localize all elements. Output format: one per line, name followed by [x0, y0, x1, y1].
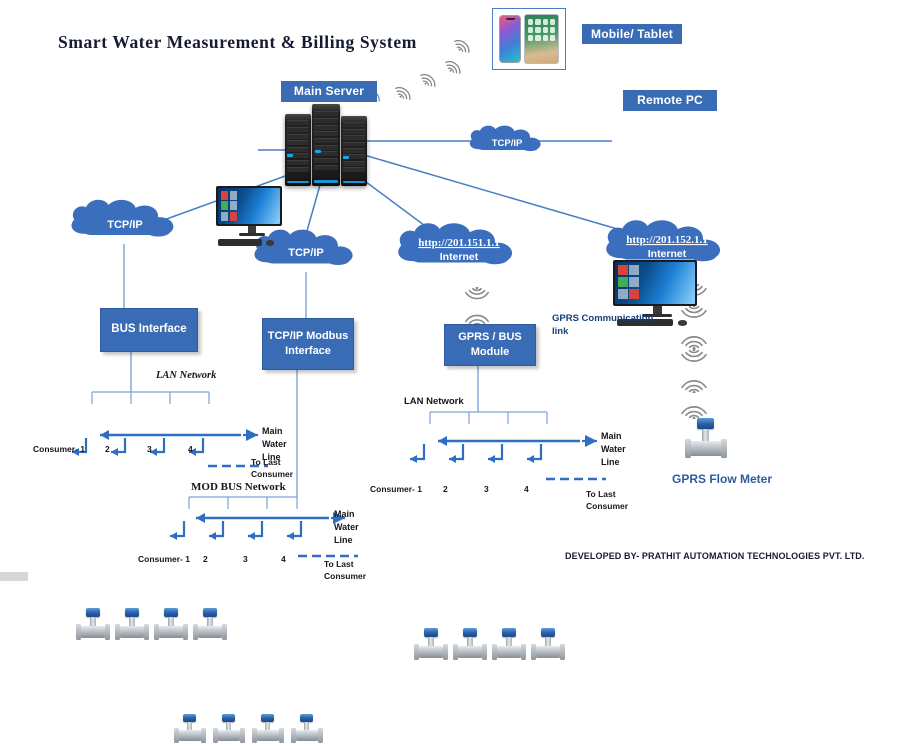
wifi-icon	[418, 71, 438, 90]
flow-meter-icon	[115, 608, 149, 646]
cloud-label: Internet	[440, 251, 479, 263]
wifi-icon	[393, 84, 413, 103]
gprs-link-annotation: GPRS Communication link	[552, 312, 672, 339]
flow-meter-icon	[76, 608, 110, 646]
wifi-icon	[466, 286, 489, 298]
consumer-label: Consumer- 1	[33, 444, 85, 454]
wifi-gprs-1	[466, 286, 489, 328]
mobile-tablet-label: Mobile/ Tablet	[582, 24, 682, 44]
gprs-module-box[interactable]: GPRS / BUS Module	[444, 324, 536, 366]
cloud-internet-2: http://201.152.1.1 Internet	[606, 220, 720, 261]
cloud-url: http://201.151.1.1	[418, 237, 500, 249]
bank-lan-gprs	[410, 412, 606, 479]
diagram-artwork: TCP/IP TCP/IP TCP/IP http://201.151.1.1 …	[0, 0, 912, 581]
lan-network-label-gprs: LAN Network	[404, 396, 464, 407]
consumer-label: 4	[281, 554, 286, 564]
tablet-icon	[524, 14, 559, 64]
flow-meter-icon	[453, 628, 487, 666]
cloud-label: TCP/IP	[288, 247, 323, 259]
desktop-monitor-icon	[216, 186, 288, 248]
cloud-url: http://201.152.1.1	[626, 234, 708, 246]
to-last-consumer-label: To Last Consumer	[586, 489, 646, 513]
main-water-line-label: Main Water Line	[601, 430, 647, 469]
flow-arrow	[196, 513, 205, 523]
cloud-internet-1: http://201.151.1.1 Internet	[398, 223, 512, 264]
flow-meter-icon	[154, 608, 188, 646]
consumer-label: 4	[188, 444, 193, 454]
consumer-label: 2	[203, 554, 208, 564]
page-title: Smart Water Measurement & Billing System	[58, 32, 417, 53]
lan-network-label-left: LAN Network	[156, 370, 216, 381]
consumer-label: Consumer- 1	[138, 554, 190, 564]
footer-credit: DEVELOPED BY- PRATHIT AUTOMATION TECHNOL…	[565, 551, 865, 561]
phone-tablet-icon	[492, 8, 566, 70]
main-server-label: Main Server	[281, 81, 377, 102]
server-rack-icon	[285, 104, 912, 186]
bank-modbus	[170, 497, 358, 556]
wifi-icon	[682, 381, 706, 394]
consumer-label: 3	[484, 484, 489, 494]
flow-arrow	[438, 436, 447, 446]
wifi-icon	[682, 337, 706, 350]
consumer-label: 3	[147, 444, 152, 454]
consumer-label: 4	[524, 484, 529, 494]
consumer-label: 3	[243, 554, 248, 564]
bottom-left-marker	[0, 572, 28, 581]
wifi-icon	[452, 37, 472, 56]
wifi-icon	[443, 58, 463, 77]
modbus-network-label: MOD BUS Network	[191, 481, 286, 493]
flow-meter-icon	[531, 628, 565, 666]
cloud-label: Internet	[648, 248, 687, 260]
diagram-canvas: TCP/IP TCP/IP TCP/IP http://201.151.1.1 …	[0, 0, 912, 581]
flow-meter-icon	[193, 608, 227, 646]
flow-meter-icon	[492, 628, 526, 666]
smartphone-icon	[499, 15, 521, 63]
main-water-line-label: Main Water Line	[334, 508, 380, 547]
gprs-flow-meter-label: GPRS Flow Meter	[672, 472, 772, 486]
flow-arrow	[100, 430, 109, 440]
flow-meter-icon	[252, 714, 284, 750]
bank-lan-left	[72, 392, 268, 466]
remote-pc-label: Remote PC	[623, 90, 717, 111]
flow-meter-icon	[213, 714, 245, 750]
to-last-consumer-label: To Last Consumer	[251, 457, 311, 481]
consumer-label: 2	[105, 444, 110, 454]
bus-interface-box[interactable]: BUS Interface	[100, 308, 198, 352]
flow-meter-icon	[291, 714, 323, 750]
consumer-label: 2	[443, 484, 448, 494]
to-last-consumer-label: To Last Consumer	[324, 559, 384, 583]
wifi-icon	[682, 348, 706, 361]
modbus-interface-box[interactable]: TCP/IP Modbus Interface	[262, 318, 354, 370]
consumer-label: Consumer- 1	[370, 484, 422, 494]
cloud-tcpip-bus: TCP/IP	[71, 200, 173, 237]
flow-meter-icon	[684, 418, 728, 464]
flow-meter-icon	[414, 628, 448, 666]
cloud-label: TCP/IP	[107, 219, 142, 231]
flow-meter-icon	[174, 714, 206, 750]
